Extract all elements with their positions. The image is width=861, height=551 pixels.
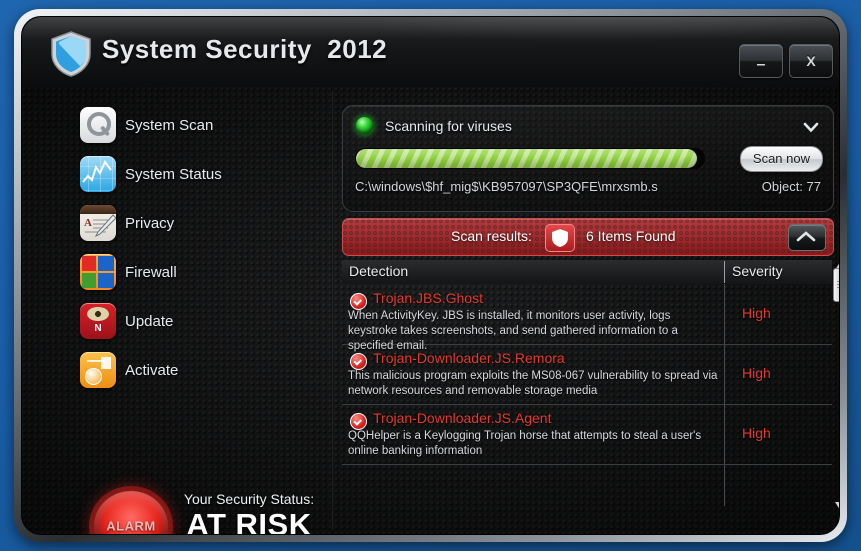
scan-panel: Scanning for viruses Scan now C:\windows… <box>342 105 832 520</box>
disc-icon: N <box>80 303 116 339</box>
status-led-icon <box>356 117 373 134</box>
threat-name: Trojan-Downloader.JS.Remora <box>373 350 565 366</box>
scan-progress-bar <box>355 148 705 169</box>
title-bar: System Security 2012 – X <box>22 17 839 88</box>
security-status-label: Your Security Status: <box>174 491 324 507</box>
header-divider <box>724 261 725 283</box>
threat-severity: High <box>742 365 771 381</box>
scan-now-button[interactable]: Scan now <box>740 146 823 172</box>
sidebar: System Scan System Status <box>22 87 318 534</box>
magnifier-icon <box>80 107 116 143</box>
scan-status-text: Scanning for viruses <box>385 118 512 134</box>
shield-icon <box>49 30 93 78</box>
sidebar-item-label: Activate <box>125 362 178 379</box>
chart-icon <box>80 156 116 192</box>
security-status-value: AT RISK <box>170 507 328 535</box>
scan-status-box: Scanning for viruses Scan now C:\windows… <box>342 105 834 212</box>
alarm-button[interactable]: ALARM <box>94 491 168 535</box>
scan-progress-fill <box>356 149 697 168</box>
footer-divider <box>340 534 840 535</box>
sidebar-item-update[interactable]: N Update <box>80 301 310 341</box>
threat-name: Trojan-Downloader.JS.Agent <box>373 410 551 426</box>
scroll-down-arrow-icon[interactable] <box>834 497 840 506</box>
page-title: System Security 2012 <box>102 34 387 65</box>
sidebar-item-label: Update <box>125 313 173 330</box>
minimize-button[interactable]: – <box>739 44 783 78</box>
sidebar-divider <box>331 91 334 530</box>
column-header-detection: Detection <box>349 263 408 279</box>
threat-name: Trojan.JBS.Ghost <box>373 290 483 306</box>
sidebar-item-label: System Status <box>125 166 222 183</box>
scroll-up-arrow-icon[interactable] <box>834 258 840 267</box>
scan-results-count: 6 Items Found <box>586 228 676 244</box>
table-row[interactable] <box>342 464 832 506</box>
sidebar-item-firewall[interactable]: Firewall <box>80 252 310 292</box>
chevron-up-icon[interactable] <box>788 224 826 251</box>
alert-check-icon <box>350 293 367 310</box>
close-button[interactable]: X <box>789 44 833 78</box>
threat-description: This malicious program exploits the MS08… <box>348 369 718 399</box>
window-inner: System Security 2012 – X System Scan <box>21 16 840 535</box>
threat-severity: High <box>742 425 771 441</box>
chevron-down-icon[interactable] <box>803 119 819 135</box>
notepad-pen-icon <box>80 205 116 241</box>
shield-icon <box>545 224 575 252</box>
colored-squares-icon <box>80 254 116 290</box>
threat-severity: High <box>742 305 771 321</box>
footer-bar: Settings Remove threats <box>342 534 832 535</box>
threat-description: QQHelper is a Keylogging Trojan horse th… <box>348 429 718 459</box>
close-icon: X <box>790 53 832 69</box>
scan-current-path: C:\windows\$hf_mig$\KB957097\SP3QFE\mrxs… <box>355 179 658 194</box>
scan-results-bar: Scan results: 6 Items Found <box>342 218 834 256</box>
scan-results-label: Scan results: <box>451 228 532 244</box>
content-area: System Scan System Status <box>22 87 839 534</box>
alert-check-icon <box>350 413 367 430</box>
scan-object-count: Object: 77 <box>762 179 821 194</box>
table-header: Detection Severity <box>342 260 832 284</box>
sidebar-item-activate[interactable]: Activate <box>80 350 310 390</box>
scrollbar-thumb[interactable] <box>833 268 840 302</box>
sidebar-item-system-status[interactable]: System Status <box>80 154 310 194</box>
sidebar-item-system-scan[interactable]: System Scan <box>80 105 310 145</box>
table-row[interactable]: Trojan.JBS.Ghost When ActivityKey. JBS i… <box>342 284 832 345</box>
sidebar-item-label: Privacy <box>125 215 174 232</box>
sidebar-item-label: Firewall <box>125 264 177 281</box>
threat-list-scrollbar[interactable] <box>832 258 840 506</box>
sidebar-item-label: System Scan <box>125 117 213 134</box>
alarm-button-label: ALARM <box>94 519 168 534</box>
globe-network-icon <box>80 352 116 388</box>
table-row[interactable]: Trojan-Downloader.JS.Agent QQHelper is a… <box>342 404 832 465</box>
threat-list: Trojan.JBS.Ghost When ActivityKey. JBS i… <box>342 284 832 506</box>
application-window: System Security 2012 – X System Scan <box>14 9 847 542</box>
table-row[interactable]: Trojan-Downloader.JS.Remora This malicio… <box>342 344 832 405</box>
column-header-severity: Severity <box>732 263 783 279</box>
sidebar-item-privacy[interactable]: Privacy <box>80 203 310 243</box>
alert-check-icon <box>350 353 367 370</box>
